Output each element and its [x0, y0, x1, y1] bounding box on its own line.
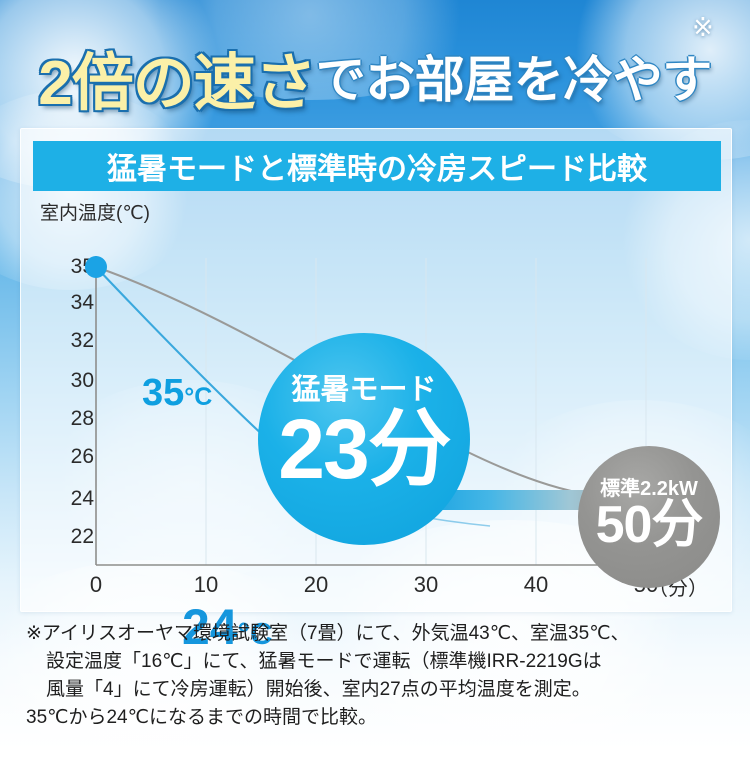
start-temperature-value: 35 — [142, 372, 184, 414]
cooling-speed-chart: 室内温度(℃) 35 34 32 30 28 26 24 22 0 10 20 … — [20, 128, 732, 612]
callout-bubble-standard-value: 50分 — [578, 501, 720, 550]
callout-bubble-standard: 標準2.2kW 50分 — [578, 446, 720, 588]
callout-bubble-heat-mode-value: 23分 — [258, 410, 470, 490]
footnote-line-2: 設定温度「16℃」にて、猛暑モードで運転（標準機IRR-2219Gは — [26, 648, 730, 676]
footnote-line-1: ※アイリスオーヤマ環境試験室（7畳）にて、外気温43℃、室温35℃、 — [26, 620, 730, 648]
headline-highlight: 2倍の速さ — [38, 32, 315, 122]
headline-rest: でお部屋を冷やす — [316, 40, 712, 114]
asterisk-mark: ※ — [692, 14, 714, 40]
footnote-line-3: 風量「4」にて冷房運転）開始後、室内27点の平均温度を測定。 — [26, 676, 730, 704]
start-temperature-label: 35°C — [142, 372, 212, 415]
footnote: ※アイリスオーヤマ環境試験室（7畳）にて、外気温43℃、室温35℃、 設定温度「… — [26, 620, 730, 732]
start-temperature-unit: °C — [184, 383, 212, 411]
headline: 2倍の速さ でお部屋を冷やす — [0, 34, 750, 120]
callout-bubble-heat-mode: 猛暑モード 23分 — [258, 333, 470, 545]
data-point-start — [85, 256, 107, 278]
footnote-line-4: 35℃から24℃になるまでの時間で比較。 — [26, 704, 730, 732]
